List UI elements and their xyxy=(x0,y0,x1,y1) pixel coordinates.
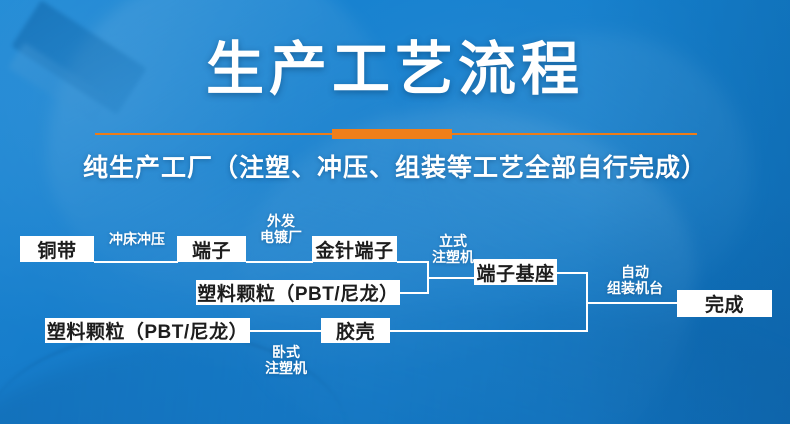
connector-plastic-bottom-to-shell xyxy=(250,330,321,332)
connector-terminal-to-goldpin xyxy=(246,261,313,263)
process-flowchart: 铜带 端子 金针端子 塑料颗粒（PBT/尼龙） 塑料颗粒（PBT/尼龙） 胶壳 … xyxy=(0,0,790,424)
edge-label-horizontal-molding: 卧式 注塑机 xyxy=(252,345,320,376)
connector-goldpin-out xyxy=(397,261,429,263)
connector-assembly-to-finished xyxy=(586,302,679,304)
edge-label-stamping: 冲床冲压 xyxy=(96,232,178,248)
node-label: 端子基座 xyxy=(476,259,554,286)
node-plastic-pellet-top[interactable]: 塑料颗粒（PBT/尼龙） xyxy=(196,280,400,305)
node-label: 铜带 xyxy=(37,236,76,263)
connector-plastic-top-out xyxy=(400,292,429,294)
node-terminal-base[interactable]: 端子基座 xyxy=(474,259,557,285)
connector-shell-to-assembly xyxy=(390,330,588,332)
node-rubber-shell[interactable]: 胶壳 xyxy=(321,318,390,343)
connector-base-out xyxy=(556,272,588,274)
edge-label-auto-assembly: 自动 组装机台 xyxy=(592,265,678,296)
node-label: 塑料颗粒（PBT/尼龙） xyxy=(47,317,248,344)
connector-copper-to-terminal xyxy=(94,261,178,263)
node-label: 胶壳 xyxy=(336,317,375,344)
node-copper-strip[interactable]: 铜带 xyxy=(20,236,94,262)
node-label: 金针端子 xyxy=(315,236,393,263)
promo-banner: 生产工艺流程 纯生产工厂（注塑、冲压、组装等工艺全部自行完成） 铜带 端子 金 xyxy=(0,0,790,424)
node-label: 端子 xyxy=(192,236,231,263)
edge-label-vertical-molding: 立式 注塑机 xyxy=(429,234,477,265)
connector-merge-to-base xyxy=(427,277,475,279)
node-finished[interactable]: 完成 xyxy=(677,290,772,317)
node-label: 塑料颗粒（PBT/尼龙） xyxy=(197,279,398,306)
node-terminal[interactable]: 端子 xyxy=(177,236,246,262)
node-gold-pin-terminal[interactable]: 金针端子 xyxy=(312,236,397,262)
node-plastic-pellet-bottom[interactable]: 塑料颗粒（PBT/尼龙） xyxy=(45,318,250,343)
edge-label-outsourced-plating: 外发 电镀厂 xyxy=(248,214,314,245)
node-label: 完成 xyxy=(705,290,744,317)
